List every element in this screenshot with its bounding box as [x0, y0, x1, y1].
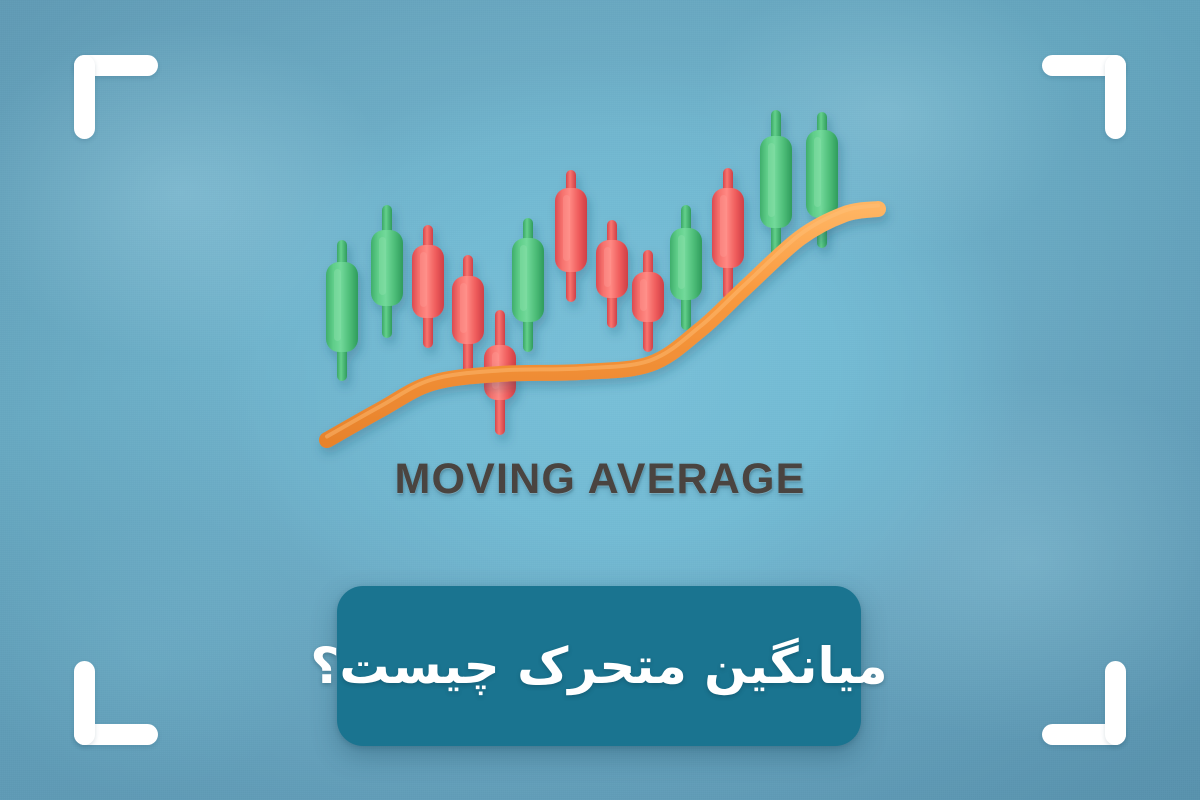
question-banner: میانگین متحرک چیست؟ [337, 586, 861, 746]
page-title: MOVING AVERAGE [0, 455, 1200, 504]
banner-title-persian: میانگین متحرک چیست؟ [286, 635, 911, 698]
poster-canvas: MOVING AVERAGE میانگین متحرک چیست؟ [0, 0, 1200, 800]
